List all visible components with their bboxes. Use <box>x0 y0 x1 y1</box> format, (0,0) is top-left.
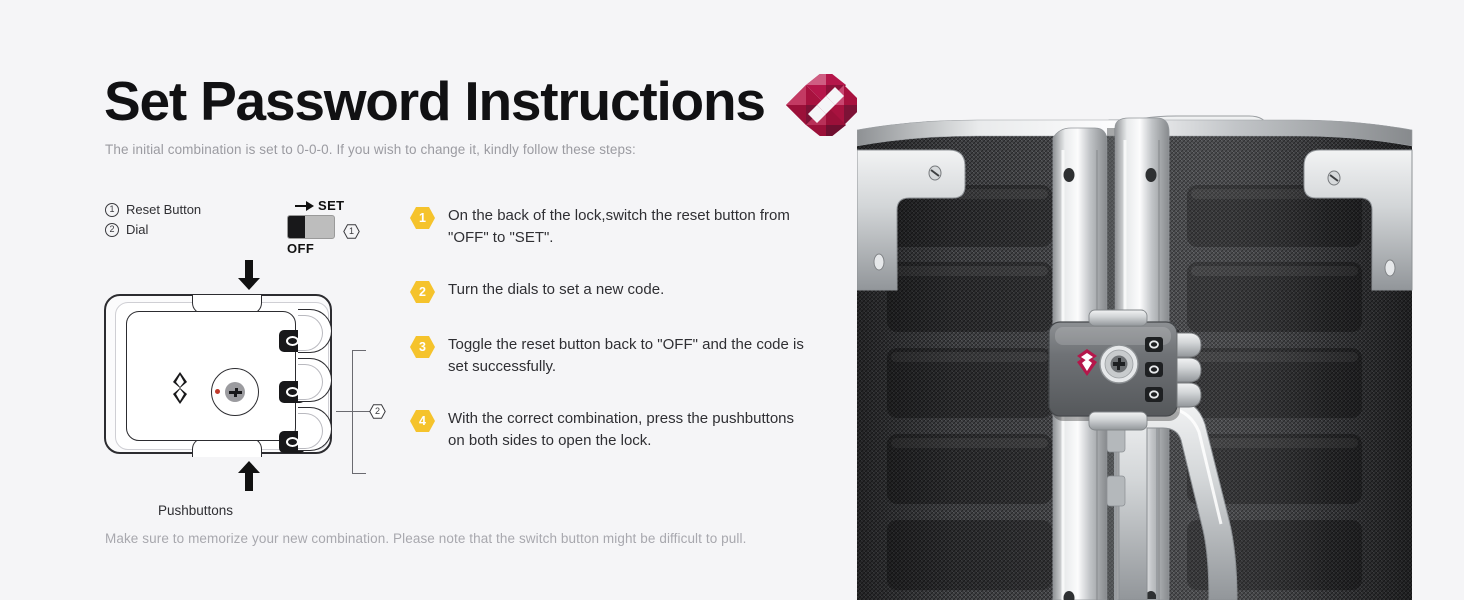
key-slot-icon <box>229 388 242 397</box>
step-text-4: With the correct combination, press the … <box>448 408 808 452</box>
pushbuttons-label: Pushbuttons <box>158 503 233 518</box>
dial-callout-number: 2 <box>369 404 386 419</box>
tsa-logo-svg <box>783 74 865 136</box>
switch-callout-badge: 1 <box>343 224 360 239</box>
lock-body: TSA007 <box>100 294 340 454</box>
dial-digit-3 <box>286 437 299 447</box>
step-text-1: On the back of the lock,switch the reset… <box>448 205 808 249</box>
suitcase-illustration <box>857 0 1464 600</box>
step-badge-4: 4 <box>409 409 436 433</box>
step-text-2: Turn the dials to set a new code. <box>448 279 664 301</box>
legend-item-reset-button: 1 Reset Button <box>105 202 201 217</box>
lock-outer-shell: TSA007 <box>104 294 332 454</box>
step-badge-1: 1 <box>409 206 436 230</box>
page-title: Set Password Instructions <box>104 73 765 131</box>
keyhole-tsa-code: TSA007 <box>211 368 238 370</box>
title-row: Set Password Instructions <box>104 68 865 136</box>
indicator-dot <box>215 389 220 394</box>
step-item-3: 3 Toggle the reset button back to "OFF" … <box>409 334 829 378</box>
step-badge-3: 3 <box>409 335 436 359</box>
switch-track[interactable] <box>287 215 335 239</box>
switch-set-row: SET <box>295 198 367 213</box>
arrow-down-icon <box>238 260 260 290</box>
legend-item-dial: 2 Dial <box>105 222 201 237</box>
suitcase-with-tsa-lock-photo <box>857 0 1464 600</box>
legend: 1 Reset Button 2 Dial <box>105 202 201 242</box>
reset-switch-graphic: SET OFF 1 <box>287 198 367 254</box>
legend-label-dial: Dial <box>126 222 148 237</box>
lock-dial-windows <box>1145 337 1163 402</box>
switch-set-label: SET <box>318 198 344 213</box>
legend-label-reset-button: Reset Button <box>126 202 201 217</box>
lock-face-plate: TSA007 <box>126 311 296 441</box>
dial-bracket-callout: 2 <box>336 350 392 474</box>
instructions-panel: Set Password Instructions <box>0 0 860 600</box>
step-number-3: 3 <box>409 335 436 359</box>
infographic-page: Set Password Instructions <box>0 0 1464 600</box>
step-number-4: 4 <box>409 409 436 433</box>
lock-diagram: TSA007 <box>100 258 400 528</box>
step-number-1: 1 <box>409 206 436 230</box>
legend-number-2: 2 <box>105 223 119 237</box>
step-text-3: Toggle the reset button back to "OFF" an… <box>448 334 808 378</box>
lock-keyhole <box>1100 345 1138 383</box>
step-item-2: 2 Turn the dials to set a new code. <box>409 279 829 304</box>
step-number-2: 2 <box>409 280 436 304</box>
step-item-4: 4 With the correct combination, press th… <box>409 408 829 452</box>
tsa-diamond-logo: ® <box>783 74 865 136</box>
switch-off-label: OFF <box>287 241 367 256</box>
dial-digit-2 <box>286 387 299 397</box>
arrow-up-icon <box>238 461 260 491</box>
step-item-1: 1 On the back of the lock,switch the res… <box>409 205 829 249</box>
legend-number-1: 1 <box>105 203 119 217</box>
footer-note: Make sure to memorize your new combinati… <box>105 531 746 546</box>
lock-dial-wheels <box>1177 333 1201 407</box>
switch-callout-number: 1 <box>343 224 360 239</box>
steps-list: 1 On the back of the lock,switch the res… <box>409 205 829 482</box>
tsa-diamond-mark-icon <box>169 372 191 404</box>
arrow-right-icon <box>295 201 315 211</box>
switch-knob[interactable] <box>288 216 305 238</box>
subtitle-text: The initial combination is set to 0-0-0.… <box>105 142 636 157</box>
step-badge-2: 2 <box>409 280 436 304</box>
keyhole-cylinder[interactable]: TSA007 <box>211 368 259 416</box>
dial-digit-1 <box>286 336 299 346</box>
